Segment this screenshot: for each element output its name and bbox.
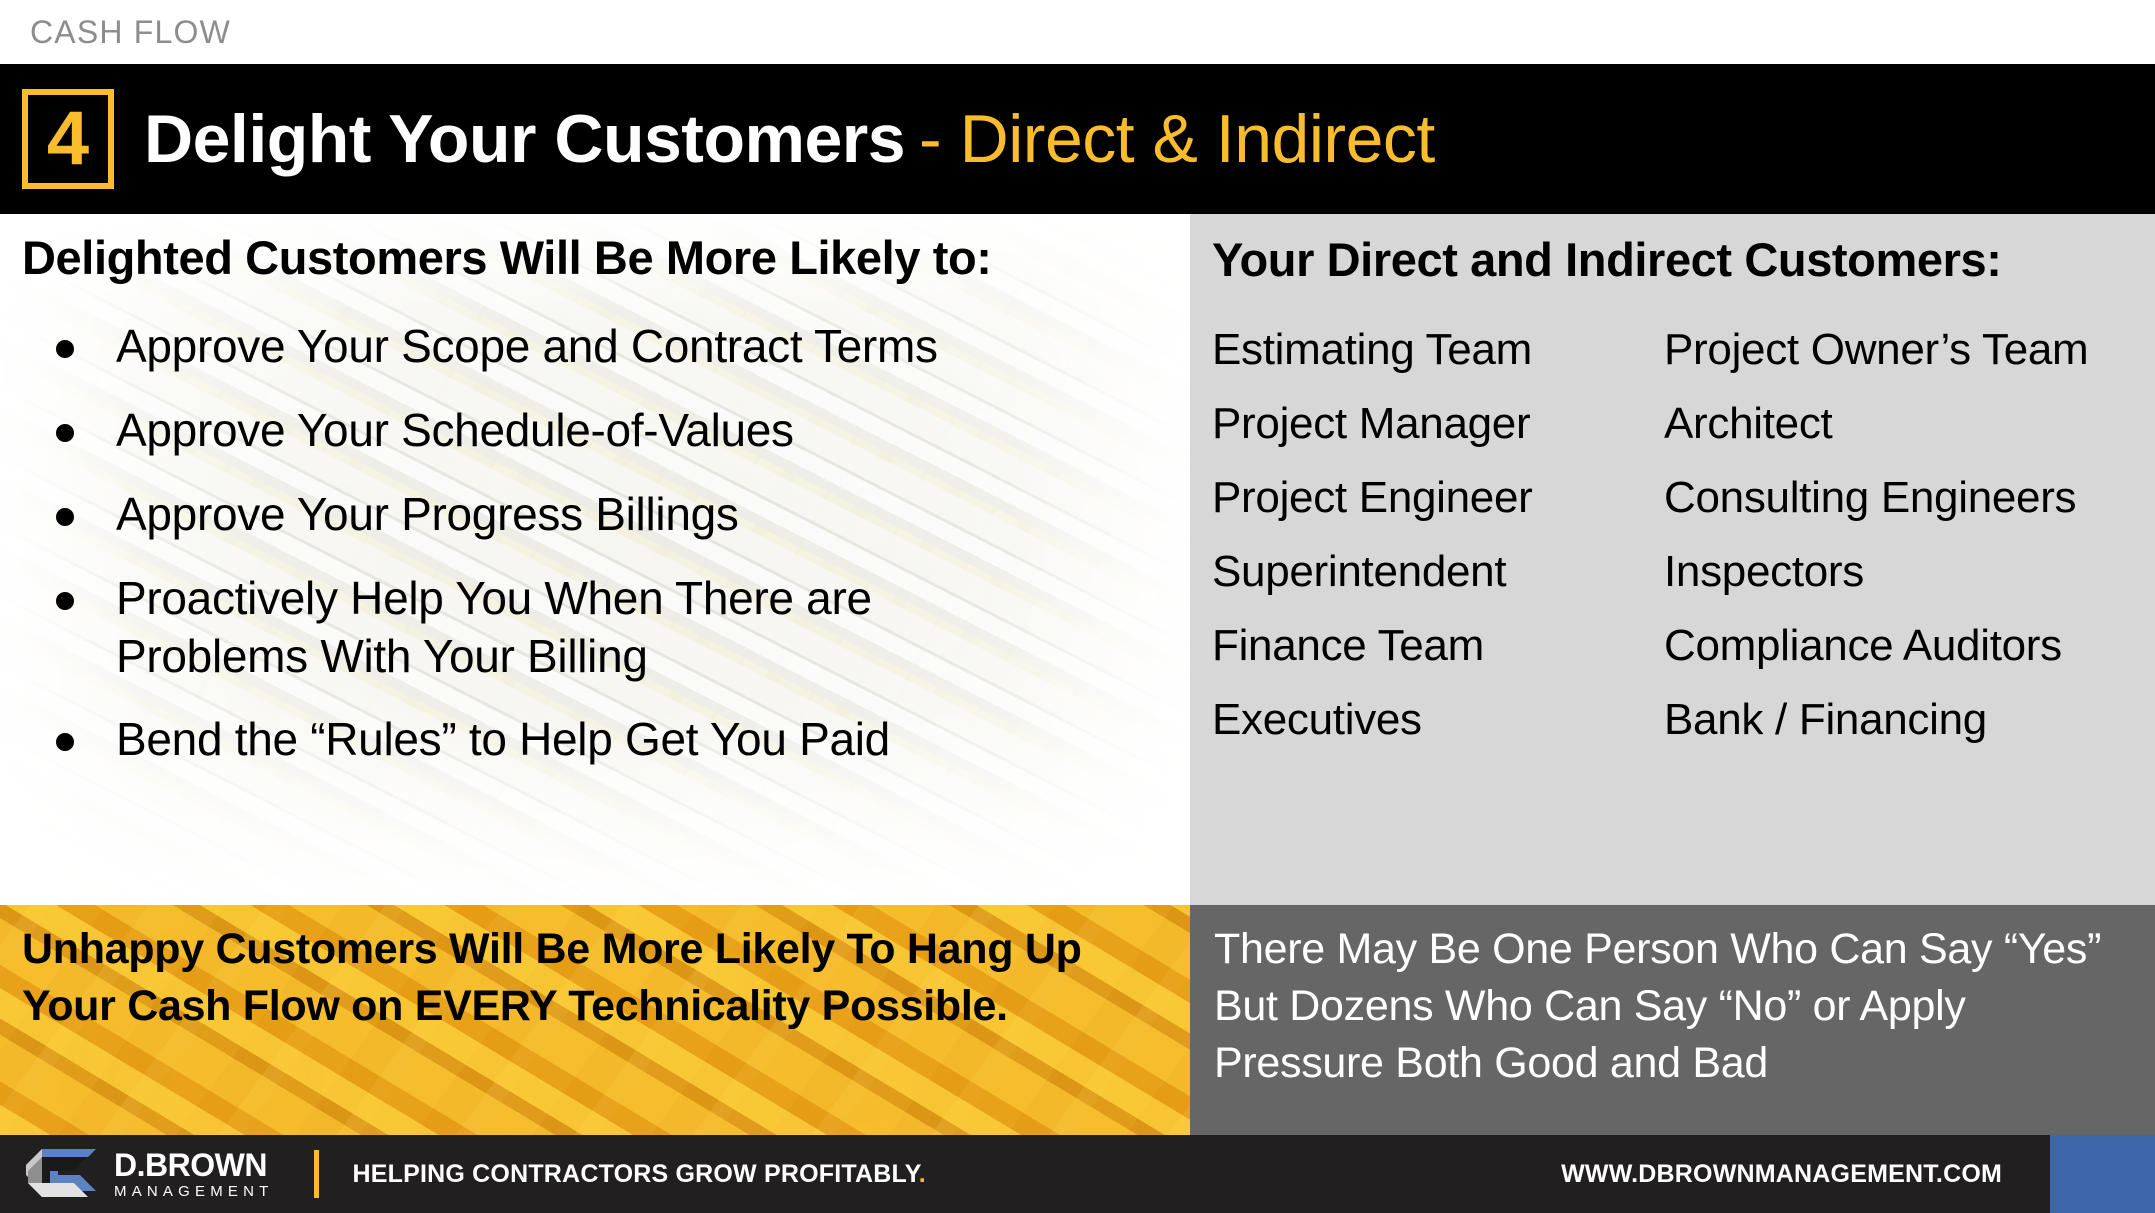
indirect-customer-cell: Consulting Engineers	[1664, 473, 2155, 523]
bullet-dot-icon	[56, 424, 74, 442]
indirect-customer-cell: Bank / Financing	[1664, 695, 2155, 745]
brand-subname: MANAGEMENT	[114, 1184, 274, 1199]
dbrown-cube-logo-icon	[22, 1145, 100, 1203]
bullet-dot-icon	[56, 592, 74, 610]
direct-customer-cell: Project Engineer	[1212, 473, 1664, 523]
warning-callout-panel: Unhappy Customers Will Be More Likely To…	[0, 905, 1190, 1135]
direct-customer-cell: Estimating Team	[1212, 325, 1664, 375]
content-area: Delighted Customers Will Be More Likely …	[0, 214, 2155, 905]
bullet-dot-icon	[56, 733, 74, 751]
list-item: Approve Your Scope and Contract Terms	[56, 318, 1190, 376]
slide-root: CASH FLOW 4 Delight Your Customers - Dir…	[0, 0, 2155, 1213]
footer-website-url[interactable]: WWW.DBROWNMANAGEMENT.COM	[1561, 1160, 2002, 1189]
left-content-panel: Delighted Customers Will Be More Likely …	[0, 214, 1190, 905]
footer-tagline-text: HELPING CONTRACTORS GROW PROFITABLY	[353, 1160, 919, 1188]
brand-logo-text: D.BROWN MANAGEMENT	[114, 1149, 274, 1199]
note-callout-panel: There May Be One Person Who Can Say “Yes…	[1190, 905, 2155, 1135]
list-item-label: Approve Your Schedule-of-Values	[116, 402, 794, 460]
footer-tagline: HELPING CONTRACTORS GROW PROFITABLY.	[353, 1160, 926, 1189]
direct-customer-cell: Finance Team	[1212, 621, 1664, 671]
right-content-panel: Your Direct and Indirect Customers: Esti…	[1190, 214, 2155, 905]
list-item-label: Approve Your Scope and Contract Terms	[116, 318, 938, 376]
page-title: Delight Your Customers	[144, 100, 905, 178]
list-item: Bend the “Rules” to Help Get You Paid	[56, 711, 1190, 769]
list-item-label: Proactively Help You When There are Prob…	[116, 570, 1061, 686]
section-number: 4	[47, 101, 89, 177]
section-number-badge: 4	[22, 89, 114, 189]
footer-divider	[314, 1150, 319, 1198]
callout-area: Unhappy Customers Will Be More Likely To…	[0, 905, 2155, 1135]
left-panel-heading: Delighted Customers Will Be More Likely …	[22, 232, 1190, 284]
bullet-dot-icon	[56, 340, 74, 358]
warning-callout-text: Unhappy Customers Will Be More Likely To…	[22, 921, 1166, 1035]
note-callout-text: There May Be One Person Who Can Say “Yes…	[1214, 921, 2131, 1093]
indirect-customer-cell: Inspectors	[1664, 547, 2155, 597]
direct-customer-cell: Superintendent	[1212, 547, 1664, 597]
indirect-customer-cell: Architect	[1664, 399, 2155, 449]
list-item: Approve Your Progress Billings	[56, 486, 1190, 544]
list-item-label: Approve Your Progress Billings	[116, 486, 739, 544]
indirect-customer-cell: Compliance Auditors	[1664, 621, 2155, 671]
footer-bar: D.BROWN MANAGEMENT HELPING CONTRACTORS G…	[0, 1135, 2155, 1213]
eyebrow-label: CASH FLOW	[30, 14, 231, 51]
direct-customer-cell: Executives	[1212, 695, 1664, 745]
list-item-label: Bend the “Rules” to Help Get You Paid	[116, 711, 890, 769]
brand-name: D.BROWN	[114, 1149, 274, 1181]
title-bar: 4 Delight Your Customers - Direct & Indi…	[0, 64, 2155, 214]
bullet-dot-icon	[56, 508, 74, 526]
list-item: Approve Your Schedule-of-Values	[56, 402, 1190, 460]
footer-tagline-period: .	[919, 1160, 926, 1188]
direct-customer-cell: Project Manager	[1212, 399, 1664, 449]
benefits-list: Approve Your Scope and Contract Terms Ap…	[22, 318, 1190, 770]
eyebrow-bar: CASH FLOW	[0, 0, 2155, 64]
footer-blue-block	[2050, 1135, 2155, 1213]
customers-table: Estimating Team Project Owner’s Team Pro…	[1212, 325, 2155, 745]
list-item: Proactively Help You When There are Prob…	[56, 570, 1190, 686]
page-subtitle: - Direct & Indirect	[919, 100, 1435, 178]
brand-logo[interactable]: D.BROWN MANAGEMENT	[0, 1145, 274, 1203]
indirect-customer-cell: Project Owner’s Team	[1664, 325, 2155, 375]
right-panel-heading: Your Direct and Indirect Customers:	[1212, 232, 2155, 287]
